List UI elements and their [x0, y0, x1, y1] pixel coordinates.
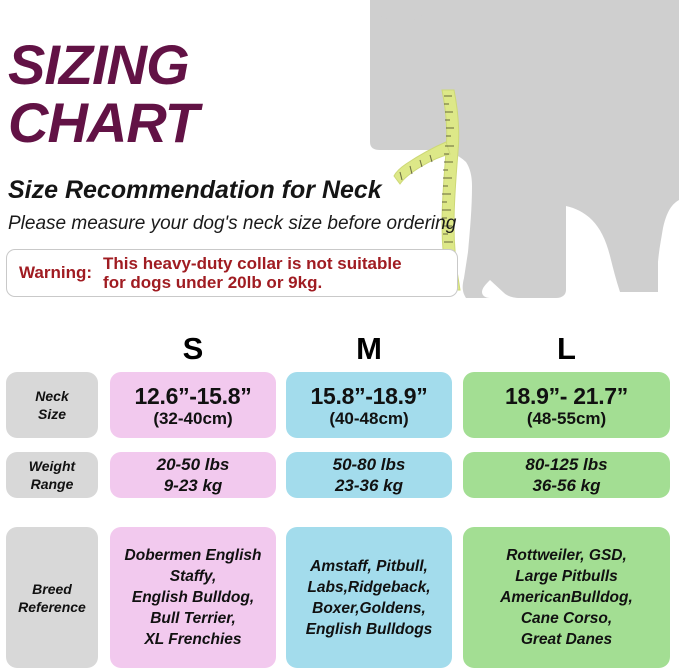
neck-size-small-cm: (32-40cm)	[153, 409, 232, 428]
size-header-s: S	[110, 333, 276, 364]
breed-small-line-1: Dobermen English	[125, 545, 262, 566]
row-label-neck-line-1: Neck	[35, 387, 68, 405]
breed-large-line-1: Rottweiler, GSD,	[506, 545, 627, 566]
weight-range-medium-lbs: 50-80 lbs	[333, 454, 406, 475]
row-label-weight-line-1: Weight	[29, 457, 75, 475]
sizing-chart-page: SIZING CHART Size Recommendation for Nec…	[0, 0, 679, 672]
weight-range-large-lbs: 80-125 lbs	[525, 454, 607, 475]
neck-size-large-cm: (48-55cm)	[527, 409, 606, 428]
row-label-neck-line-2: Size	[38, 405, 66, 423]
neck-size-small: 12.6”-15.8” (32-40cm)	[110, 372, 276, 438]
warning-box: Warning: This heavy-duty collar is not s…	[6, 249, 458, 297]
warning-label: Warning:	[19, 263, 92, 283]
breed-reference-large: Rottweiler, GSD, Large Pitbulls American…	[463, 527, 670, 668]
breed-small-line-3: English Bulldog,	[132, 587, 254, 608]
weight-range-small-kg: 9-23 kg	[164, 475, 223, 496]
weight-range-small: 20-50 lbs 9-23 kg	[110, 452, 276, 498]
breed-large-line-4: Cane Corso,	[521, 608, 612, 629]
row-label-weight-range: Weight Range	[6, 452, 98, 498]
title-line-1: SIZING	[8, 36, 478, 94]
breed-large-line-5: Great Danes	[521, 629, 612, 650]
weight-range-large: 80-125 lbs 36-56 kg	[463, 452, 670, 498]
neck-size-large-inches: 18.9”- 21.7”	[505, 383, 628, 409]
neck-size-medium: 15.8”-18.9” (40-48cm)	[286, 372, 452, 438]
row-label-breed-reference: Breed Reference	[6, 527, 98, 668]
breed-medium-line-4: English Bulldogs	[306, 619, 433, 640]
breed-small-line-4: Bull Terrier,	[150, 608, 236, 629]
neck-size-medium-cm: (40-48cm)	[329, 409, 408, 428]
breed-reference-medium: Amstaff, Pitbull, Labs,Ridgeback, Boxer,…	[286, 527, 452, 668]
size-header-m: M	[286, 333, 452, 364]
row-label-neck-size: Neck Size	[6, 372, 98, 438]
warning-message-line-2: for dogs under 20lb or 9kg.	[103, 273, 402, 292]
neck-size-large: 18.9”- 21.7” (48-55cm)	[463, 372, 670, 438]
weight-range-medium: 50-80 lbs 23-36 kg	[286, 452, 452, 498]
size-header-l: L	[463, 333, 670, 364]
warning-message: This heavy-duty collar is not suitable f…	[103, 254, 402, 292]
page-title: SIZING CHART	[8, 36, 478, 152]
weight-range-medium-kg: 23-36 kg	[335, 475, 403, 496]
breed-medium-line-3: Boxer,Goldens,	[312, 598, 426, 619]
breed-large-line-3: AmericanBulldog,	[500, 587, 633, 608]
title-line-2: CHART	[8, 94, 478, 152]
row-label-breed-line-1: Breed	[32, 580, 72, 598]
breed-medium-line-2: Labs,Ridgeback,	[307, 577, 430, 598]
neck-size-small-inches: 12.6”-15.8”	[135, 383, 252, 409]
warning-message-line-1: This heavy-duty collar is not suitable	[103, 254, 402, 273]
breed-large-line-2: Large Pitbulls	[515, 566, 618, 587]
weight-range-small-lbs: 20-50 lbs	[157, 454, 230, 475]
breed-reference-small: Dobermen English Staffy, English Bulldog…	[110, 527, 276, 668]
subtitle: Size Recommendation for Neck	[8, 176, 488, 204]
row-label-breed-line-2: Reference	[18, 598, 86, 616]
measure-instruction: Please measure your dog's neck size befo…	[8, 212, 488, 236]
breed-small-line-5: XL Frenchies	[144, 629, 241, 650]
row-label-weight-line-2: Range	[31, 475, 74, 493]
weight-range-large-kg: 36-56 kg	[532, 475, 600, 496]
breed-small-line-2: Staffy,	[170, 566, 217, 587]
breed-medium-line-1: Amstaff, Pitbull,	[310, 556, 428, 577]
neck-size-medium-inches: 15.8”-18.9”	[311, 383, 428, 409]
